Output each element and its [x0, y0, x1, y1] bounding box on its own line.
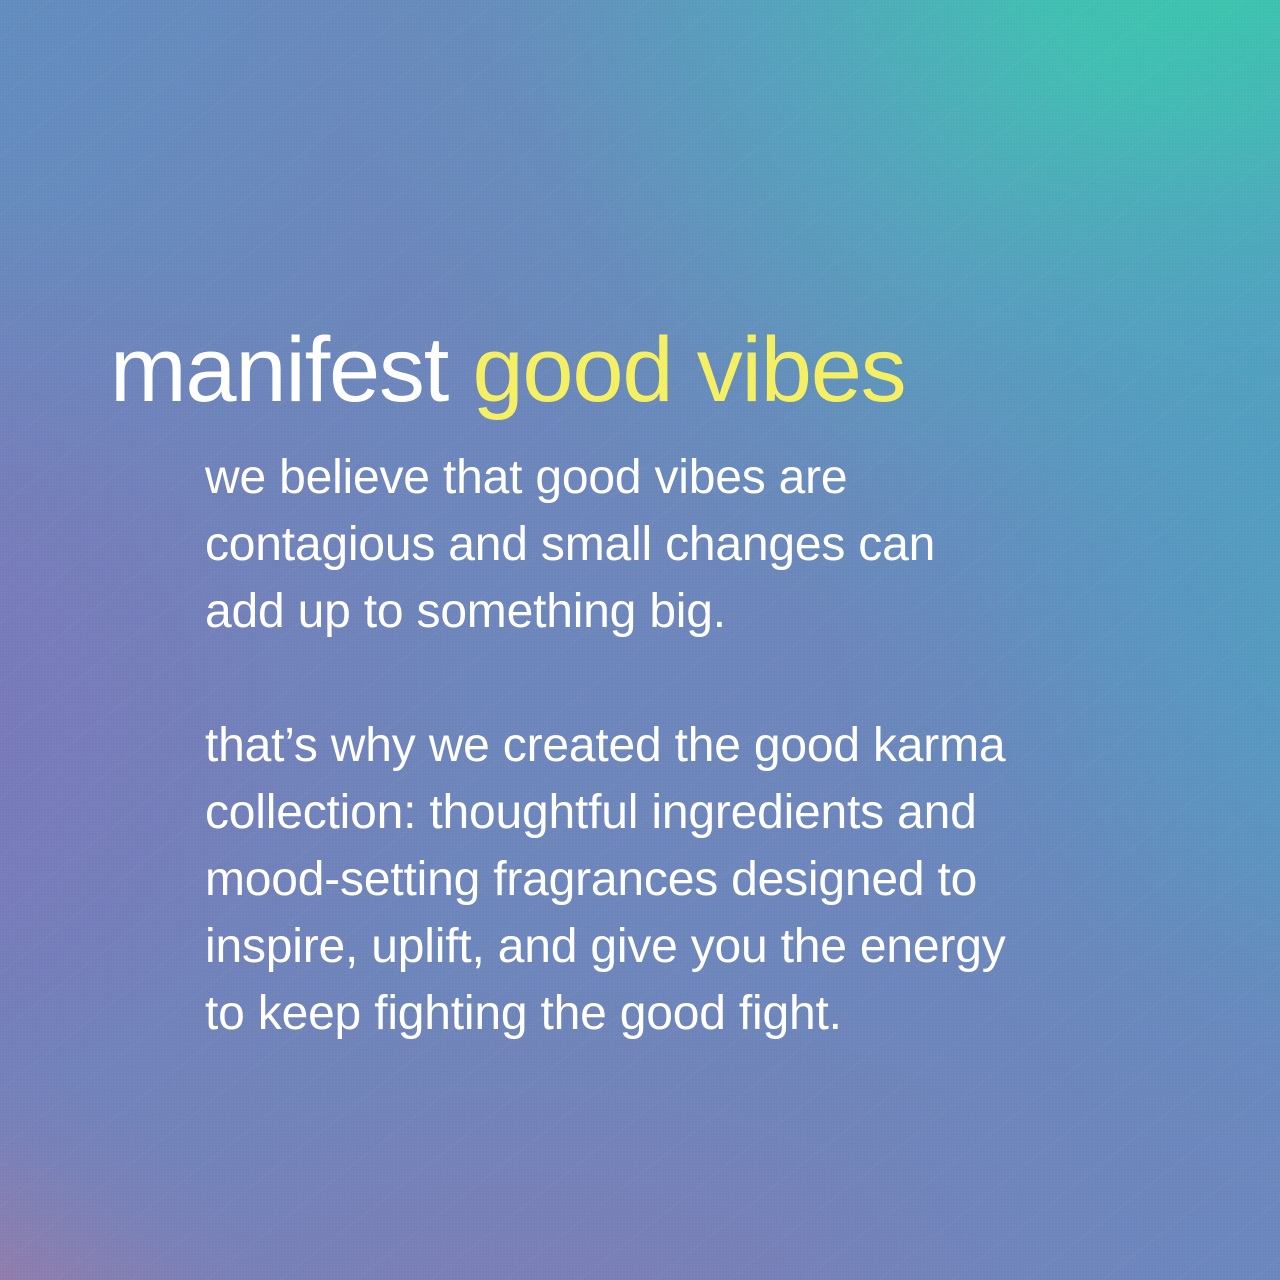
content-layer: manifest good vibes we believe that good… — [0, 0, 1280, 1280]
page-title: manifest good vibes — [110, 324, 905, 416]
headline-segment-accent: good vibes — [472, 319, 905, 421]
body-copy: we believe that good vibes are contagiou… — [205, 444, 1105, 1047]
body-paragraph-1: we believe that good vibes are contagiou… — [205, 444, 1105, 645]
brand-statement-graphic: manifest good vibes we believe that good… — [0, 0, 1280, 1280]
body-paragraph-2: that’s why we created the good karma col… — [205, 712, 1105, 1047]
headline-segment-primary: manifest — [110, 319, 472, 421]
